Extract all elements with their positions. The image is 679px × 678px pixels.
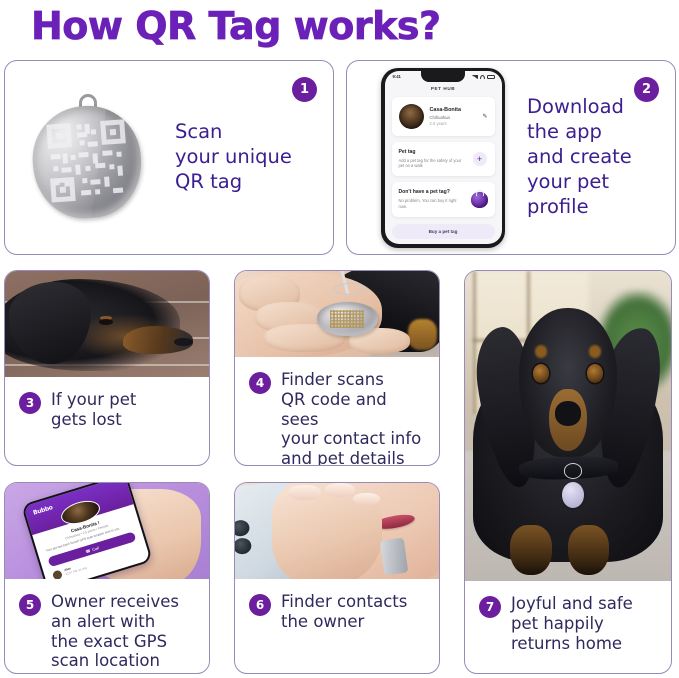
step-text-3-line-2: gets lost xyxy=(51,410,136,430)
wifi-icon xyxy=(480,75,485,79)
step-text-1-line-1: Scan xyxy=(175,120,292,145)
qr-code-engraving xyxy=(46,119,129,202)
dog-eye xyxy=(99,319,113,325)
woman-calling-on-phone-photo xyxy=(235,483,439,579)
collar-ring-icon xyxy=(564,463,583,479)
dog-eye-left xyxy=(533,364,549,383)
step-text-7-line-2: pet happily xyxy=(511,614,633,634)
step-caption-3: 3 If your pet gets lost xyxy=(5,377,209,440)
pet-name: Casa-Bonita xyxy=(430,107,477,113)
qr-code-engraving xyxy=(330,310,364,328)
step-caption-5: 5 Owner receives an alert with the exact… xyxy=(5,579,209,674)
dog-nose xyxy=(174,338,192,346)
status-time: 9:41 xyxy=(393,74,401,79)
step-text-2-line-3: and create xyxy=(527,145,675,170)
no-pet-tag-card[interactable]: Don't have a pet tag? No problem. You ca… xyxy=(392,182,495,216)
step-text-5-line-1: Owner receives xyxy=(51,592,179,612)
camera-lens-icon xyxy=(235,537,252,555)
dog-eye-right xyxy=(587,364,603,383)
dog-lying-on-deck-photo xyxy=(5,271,209,377)
step-badge-4: 4 xyxy=(249,372,271,394)
step-text-4-line-1: Finder scans xyxy=(281,370,427,390)
battery-icon xyxy=(487,75,495,79)
no-tag-body: No problem. You can buy it right now. xyxy=(399,198,465,210)
step-text-2: Download the app and create your pet pro… xyxy=(527,95,675,220)
phone-screen: Bubbo Casa-Bonita ! Chihuahua • 2.5 year… xyxy=(23,483,150,579)
step-card-7[interactable]: 7 Joyful and safe pet happily returns ho… xyxy=(464,270,672,674)
dog-paw-right xyxy=(568,525,609,575)
step-caption-7: 7 Joyful and safe pet happily returns ho… xyxy=(465,581,671,663)
step-badge-2: 2 xyxy=(634,77,659,102)
step-text-7: Joyful and safe pet happily returns home xyxy=(511,594,633,653)
step-text-5: Owner receives an alert with the exact G… xyxy=(51,592,179,671)
phone-frame: 9:41 PET HUB Casa-Bonita xyxy=(381,68,505,248)
watch xyxy=(380,537,409,575)
purple-tag-icon xyxy=(471,192,488,208)
step-card-5[interactable]: Bubbo Casa-Bonita ! Chihuahua • 2.5 year… xyxy=(4,482,210,674)
camera-lens-icon xyxy=(235,519,250,537)
pet-age: 2.5 years xyxy=(430,121,477,126)
step-badge-3: 3 xyxy=(19,392,41,414)
pet-breed: Chihuahua xyxy=(430,115,477,120)
tag-body xyxy=(29,102,145,221)
phone-frame: Bubbo Casa-Bonita ! Chihuahua • 2.5 year… xyxy=(20,483,152,579)
qr-tag xyxy=(317,302,378,336)
step-text-2-line-2: the app xyxy=(527,120,675,145)
step-text-7-line-3: returns home xyxy=(511,634,633,654)
buy-a-pet-tag-button[interactable]: Buy a pet tag xyxy=(392,224,495,239)
step-card-6[interactable]: 6 Finder contacts the owner xyxy=(234,482,440,674)
step-text-6: Finder contacts the owner xyxy=(281,592,407,632)
hand-holding-qr-tag-photo xyxy=(235,271,439,357)
step-text-1: Scan your unique QR tag xyxy=(175,120,292,195)
step-card-3[interactable]: 3 If your pet gets lost xyxy=(4,270,210,466)
step-text-4-line-2: QR code and sees xyxy=(281,390,427,430)
step-text-3-line-1: If your pet xyxy=(51,390,136,410)
phone-notch xyxy=(421,71,465,82)
hand-holding-phone-alert-photo: Bubbo Casa-Bonita ! Chihuahua • 2.5 year… xyxy=(5,483,209,579)
phone-icon: ☎ xyxy=(84,548,90,554)
step-caption-6: 6 Finder contacts the owner xyxy=(235,579,439,642)
page-title: How QR Tag works? xyxy=(31,4,441,48)
phone-screen-title: PET HUB xyxy=(385,86,502,91)
pet-tag-card[interactable]: Pet tag Add a pet tag for the safety of … xyxy=(392,142,495,176)
step-text-5-line-3: the exact GPS xyxy=(51,632,179,652)
qr-tag-photo xyxy=(27,94,147,222)
step-badge-5: 5 xyxy=(19,594,41,616)
pet-profile-card[interactable]: Casa-Bonita Chihuahua 2.5 years ✎ xyxy=(392,97,495,136)
step-card-1[interactable]: 1 xyxy=(4,60,334,255)
phone-screen: 9:41 PET HUB Casa-Bonita xyxy=(385,71,502,244)
tag-ring-icon xyxy=(333,283,366,295)
step-badge-6: 6 xyxy=(249,594,271,616)
step-caption-4: 4 Finder scans QR code and sees your con… xyxy=(235,357,439,466)
phone-app-screenshot: 9:41 PET HUB Casa-Bonita xyxy=(381,68,505,248)
step-badge-1: 1 xyxy=(292,77,317,102)
dog-paw-left xyxy=(510,525,551,575)
step-card-4[interactable]: 4 Finder scans QR code and sees your con… xyxy=(234,270,440,466)
step-text-6-line-2: the owner xyxy=(281,612,407,632)
signal-icon xyxy=(472,75,478,79)
step-text-7-line-1: Joyful and safe xyxy=(511,594,633,614)
step-card-2[interactable]: 2 9:41 PET HUB xyxy=(346,60,676,255)
step-text-4-line-4: and pet details xyxy=(281,449,427,466)
step-text-6-line-1: Finder contacts xyxy=(281,592,407,612)
step-text-5-line-2: an alert with xyxy=(51,612,179,632)
pet-avatar xyxy=(399,104,424,129)
how-it-works-infographic: How QR Tag works? 1 xyxy=(0,0,679,678)
step-text-4-line-3: your contact info xyxy=(281,429,427,449)
step-text-3: If your pet gets lost xyxy=(51,390,136,430)
pet-tag-body: Add a pet tag for the safety of your pet… xyxy=(399,158,465,170)
avatar xyxy=(52,569,63,579)
pencil-icon[interactable]: ✎ xyxy=(482,113,487,120)
dachshund-on-couch-photo xyxy=(465,271,671,581)
step-text-4: Finder scans QR code and sees your conta… xyxy=(281,370,427,466)
step-text-5-line-4: scan location xyxy=(51,651,179,671)
dog-nose xyxy=(555,401,582,426)
step-text-1-line-3: QR tag xyxy=(175,170,292,195)
step-text-1-line-2: your unique xyxy=(175,145,292,170)
plus-icon[interactable]: + xyxy=(473,152,487,166)
call-button-label: Call xyxy=(91,545,99,552)
step-text-2-line-4: your pet profile xyxy=(527,170,675,220)
step-badge-7: 7 xyxy=(479,596,501,618)
